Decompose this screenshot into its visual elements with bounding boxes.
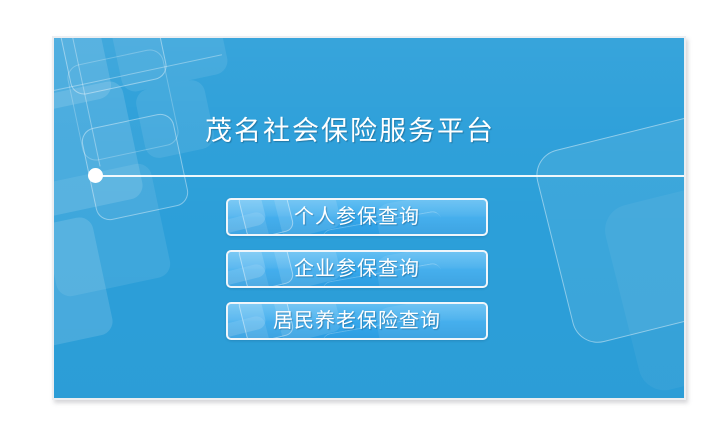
rounded-square-icon [226, 210, 276, 236]
rounded-square-icon [226, 302, 267, 339]
rounded-square-icon [226, 198, 267, 235]
rounded-square-icon [52, 36, 114, 118]
rounded-square-icon [226, 262, 276, 288]
personal-insurance-query-button[interactable]: 个人参保查询 [226, 198, 488, 236]
rounded-square-outline-icon [53, 36, 169, 97]
rounded-square-icon [226, 250, 267, 287]
divider-line [95, 175, 684, 177]
rounded-square-icon [226, 314, 276, 340]
button-label: 个人参保查询 [294, 207, 420, 227]
screen: 茂名社会保险服务平台 个人参保查询 [0, 0, 711, 424]
diagonal-hairline-icon [52, 54, 222, 94]
rounded-square-icon [102, 36, 230, 94]
query-button-group: 个人参保查询 企业参保查询 居民养老保险查询 [54, 198, 684, 340]
divider [54, 169, 684, 185]
main-panel: 茂名社会保险服务平台 个人参保查询 [52, 36, 686, 400]
button-label: 企业参保查询 [294, 259, 420, 279]
rounded-square-outline-icon [237, 198, 295, 236]
button-label: 居民养老保险查询 [273, 311, 441, 331]
resident-pension-insurance-query-button[interactable]: 居民养老保险查询 [226, 302, 488, 340]
enterprise-insurance-query-button[interactable]: 企业参保查询 [226, 250, 488, 288]
rounded-square-outline-icon [237, 250, 295, 288]
page-title: 茂名社会保险服务平台 [54, 114, 684, 148]
